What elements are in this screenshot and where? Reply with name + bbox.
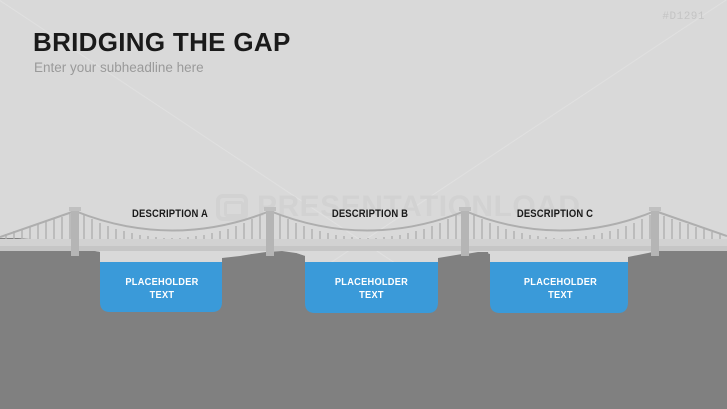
section-label-c[interactable]: DESCRIPTION C: [495, 208, 615, 220]
bridge-tower: [461, 208, 469, 256]
bridge-tower-cap: [649, 207, 661, 211]
bridge-deck-shadow: [0, 246, 727, 251]
cliff-shoulders: [86, 250, 662, 262]
bridge-deck: [0, 239, 727, 246]
bridge-tower-cap: [69, 207, 81, 211]
bridge-diagram: [0, 0, 727, 409]
slide-canvas: #D1291 BRIDGING THE GAP Enter your subhe…: [0, 0, 727, 409]
section-label-b[interactable]: DESCRIPTION B: [310, 208, 430, 220]
bridge-tower: [71, 208, 79, 256]
bridge-tower-cap: [459, 207, 471, 211]
placeholder-text-c[interactable]: PLACEHOLDER TEXT: [500, 276, 621, 301]
placeholder-text-a[interactable]: PLACEHOLDER TEXT: [108, 276, 215, 301]
bridge-tower: [266, 208, 274, 256]
bridge-tower: [651, 208, 659, 256]
placeholder-text-b[interactable]: PLACEHOLDER TEXT: [313, 276, 430, 301]
bridge-tower-cap: [264, 207, 276, 211]
section-label-a[interactable]: DESCRIPTION A: [110, 208, 230, 220]
